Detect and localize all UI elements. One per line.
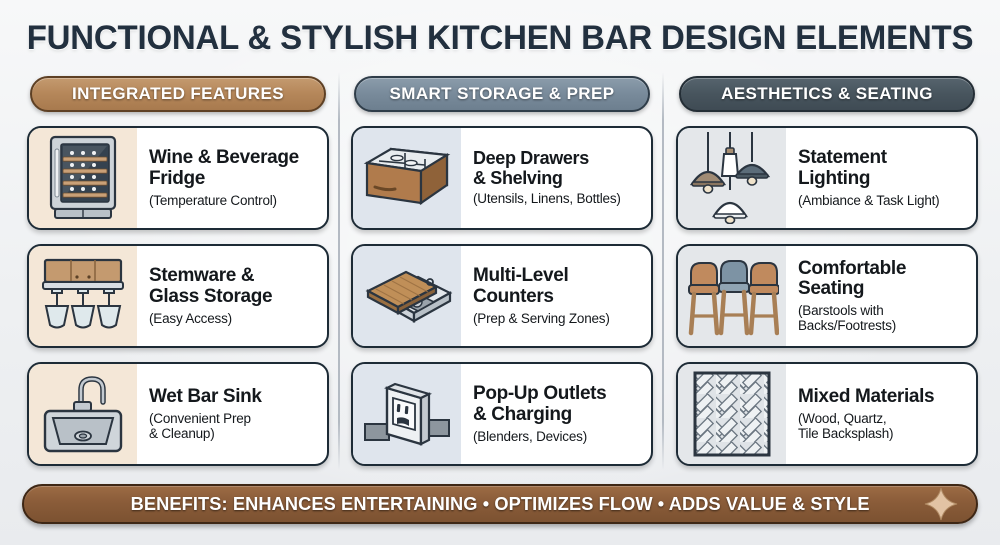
card-heading: Stemware & Glass Storage — [149, 266, 317, 307]
column-smart-storage-prep: SMART STORAGE & PREP — [351, 76, 653, 466]
card-subtext: (Wood, Quartz, Tile Backsplash) — [798, 411, 966, 442]
page-title: FUNCTIONAL & STYLISH KITCHEN BAR DESIGN … — [15, 19, 985, 58]
column-integrated-features: INTEGRATED FEATURES — [27, 76, 329, 466]
benefits-banner: BENEFITS: ENHANCES ENTERTAINING • OPTIMI… — [22, 484, 978, 524]
icon-panel — [353, 128, 461, 228]
cutting-board-icon — [360, 261, 454, 331]
card-subtext: (Utensils, Linens, Bottles) — [473, 191, 641, 206]
card-wet-bar-sink[interactable]: Wet Bar Sink (Convenient Prep & Cleanup) — [27, 362, 329, 466]
card-heading: Pop-Up Outlets & Charging — [473, 384, 641, 425]
card-subtext: (Blenders, Devices) — [473, 429, 641, 444]
card-heading: Multi-Level Counters — [473, 266, 641, 307]
card-subtext: (Prep & Serving Zones) — [473, 311, 641, 326]
card-heading: Wet Bar Sink — [149, 387, 317, 408]
pendant-lights-icon — [686, 132, 778, 224]
card-wine-beverage-fridge[interactable]: Wine & Beverage Fridge (Temperature Cont… — [27, 126, 329, 230]
sink-faucet-icon — [39, 372, 127, 456]
card-statement-lighting[interactable]: Statement Lighting (Ambiance & Task Ligh… — [676, 126, 978, 230]
column-divider-1 — [338, 72, 340, 470]
card-text: Statement Lighting (Ambiance & Task Ligh… — [786, 128, 976, 228]
icon-panel — [353, 364, 461, 464]
column-header-smart-storage-prep: SMART STORAGE & PREP — [354, 76, 650, 112]
icon-panel — [29, 128, 137, 228]
card-text: Multi-Level Counters (Prep & Serving Zon… — [461, 246, 651, 346]
icon-panel — [29, 364, 137, 464]
card-text: Comfortable Seating (Barstools with Back… — [786, 246, 976, 346]
icon-panel — [353, 246, 461, 346]
card-deep-drawers-shelving[interactable]: Deep Drawers & Shelving (Utensils, Linen… — [351, 126, 653, 230]
wine-fridge-icon — [46, 135, 120, 221]
card-heading: Statement Lighting — [798, 148, 966, 189]
card-subtext: (Temperature Control) — [149, 193, 317, 208]
icon-panel — [29, 246, 137, 346]
card-text: Deep Drawers & Shelving (Utensils, Linen… — [461, 128, 651, 228]
card-comfortable-seating[interactable]: Comfortable Seating (Barstools with Back… — [676, 244, 978, 348]
column-header-aesthetics-seating: AESTHETICS & SEATING — [679, 76, 975, 112]
card-text: Wet Bar Sink (Convenient Prep & Cleanup) — [137, 364, 327, 464]
stemware-rack-icon — [41, 256, 125, 336]
card-heading: Wine & Beverage Fridge — [149, 148, 317, 189]
benefits-text: BENEFITS: ENHANCES ENTERTAINING • OPTIMI… — [130, 493, 869, 515]
card-subtext: (Convenient Prep & Cleanup) — [149, 411, 317, 442]
card-multi-level-counters[interactable]: Multi-Level Counters (Prep & Serving Zon… — [351, 244, 653, 348]
card-popup-outlets-charging[interactable]: Pop-Up Outlets & Charging (Blenders, Dev… — [351, 362, 653, 466]
card-text: Wine & Beverage Fridge (Temperature Cont… — [137, 128, 327, 228]
barstools-icon — [685, 253, 779, 339]
drawer-icon — [361, 141, 453, 215]
card-subtext: (Ambiance & Task Light) — [798, 193, 966, 208]
card-text: Pop-Up Outlets & Charging (Blenders, Dev… — [461, 364, 651, 464]
card-heading: Mixed Materials — [798, 387, 966, 408]
column-divider-2 — [662, 72, 664, 470]
card-subtext: (Easy Access) — [149, 311, 317, 326]
icon-panel — [678, 364, 786, 464]
column-header-integrated-features: INTEGRATED FEATURES — [30, 76, 326, 112]
card-heading: Deep Drawers & Shelving — [473, 149, 641, 188]
card-heading: Comfortable Seating — [798, 259, 966, 300]
card-text: Stemware & Glass Storage (Easy Access) — [137, 246, 327, 346]
card-mixed-materials[interactable]: Mixed Materials (Wood, Quartz, Tile Back… — [676, 362, 978, 466]
card-text: Mixed Materials (Wood, Quartz, Tile Back… — [786, 364, 976, 464]
column-aesthetics-seating: AESTHETICS & SEATING — [676, 76, 978, 466]
sparkle-icon — [924, 487, 958, 521]
icon-panel — [678, 246, 786, 346]
icon-panel — [678, 128, 786, 228]
card-stemware-glass-storage[interactable]: Stemware & Glass Storage (Easy Access) — [27, 244, 329, 348]
herringbone-tile-icon — [692, 370, 772, 458]
card-subtext: (Barstools with Backs/Footrests) — [798, 303, 966, 334]
power-outlet-icon — [361, 376, 453, 452]
